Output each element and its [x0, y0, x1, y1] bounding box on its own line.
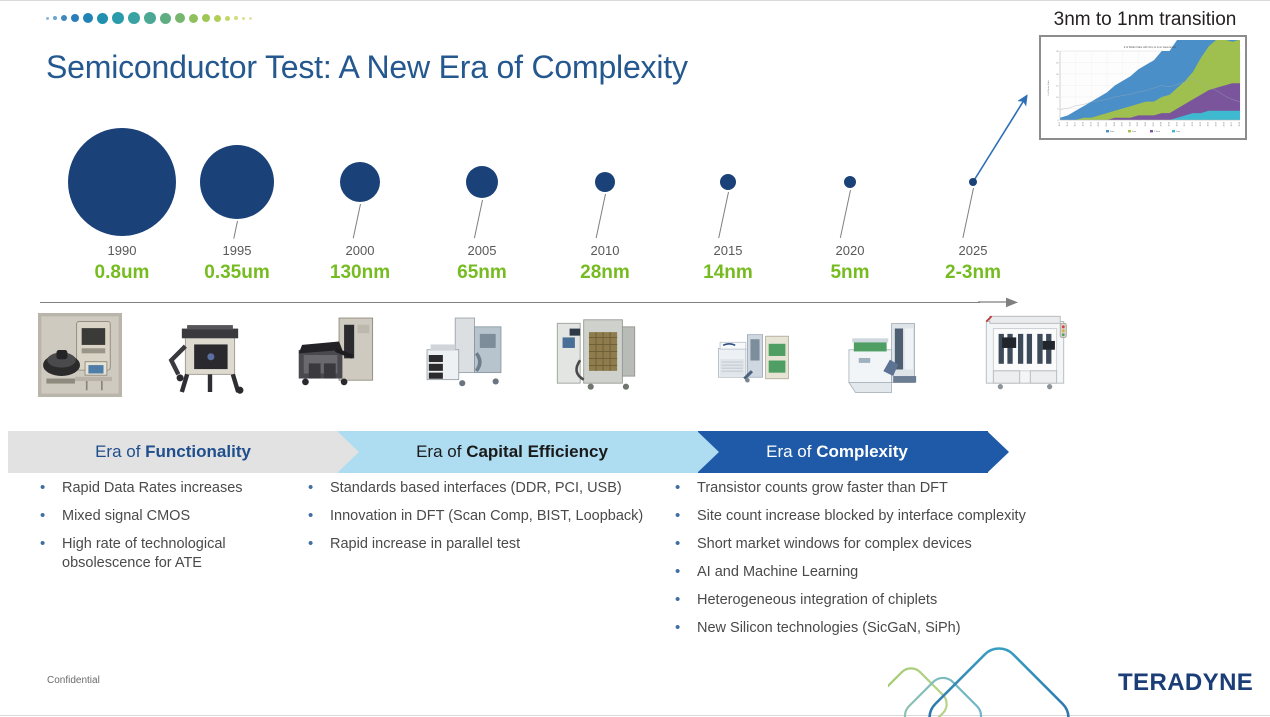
teradyne-wordmark: TERADYNE	[1118, 669, 1253, 697]
gradient-dot	[160, 13, 171, 24]
era-label-prefix: Era of	[416, 442, 466, 461]
era-banner-label: Era of Functionality	[8, 442, 338, 462]
gradient-dot	[97, 13, 108, 24]
bullet-column-1: •Rapid Data Rates increases•Mixed signal…	[40, 479, 315, 582]
gradient-dot	[61, 15, 67, 21]
equipment-photo-3	[288, 313, 380, 397]
slide-canvas: Semiconductor Test: A New Era of Complex…	[0, 0, 1270, 716]
timeline-node-2020[interactable]	[844, 176, 856, 188]
timeline-leader-line	[353, 204, 361, 238]
equipment-photo-row	[0, 301, 1270, 411]
timeline-node-2005[interactable]	[466, 166, 498, 198]
page-title: Semiconductor Test: A New Era of Complex…	[46, 49, 688, 86]
decorative-dot-strip	[46, 9, 252, 27]
timeline-node-size-label: 65nm	[420, 262, 544, 284]
timeline-leader-line	[962, 188, 974, 238]
bullet-item: •High rate of technological obsolescence…	[40, 535, 315, 573]
timeline-leader-line	[233, 221, 238, 239]
bullet-dot-icon: •	[40, 479, 62, 496]
era-label-prefix: Era of	[95, 442, 145, 461]
bullet-dot-icon: •	[40, 535, 62, 552]
equipment-photo-6	[696, 321, 814, 397]
timeline-node-2015[interactable]	[720, 174, 736, 190]
gradient-dot	[175, 13, 185, 23]
timeline-node-2025[interactable]	[969, 178, 977, 186]
timeline-leader-line	[840, 190, 851, 238]
gradient-dot	[83, 13, 93, 23]
era-bullet-columns: •Rapid Data Rates increases•Mixed signal…	[0, 479, 1270, 649]
timeline-node-size-label: 0.8um	[60, 262, 184, 284]
bullet-item: •Innovation in DFT (Scan Comp, BIST, Loo…	[308, 507, 678, 526]
era-label-emphasis: Complexity	[816, 442, 908, 461]
bullet-dot-icon: •	[675, 563, 697, 580]
timeline-leader-line	[718, 192, 729, 238]
bullet-dot-icon: •	[675, 507, 697, 524]
era-label-emphasis: Capital Efficiency	[466, 442, 608, 461]
teradyne-logo-mark	[888, 641, 1118, 717]
gradient-dot	[189, 14, 198, 23]
gradient-dot	[112, 12, 124, 24]
svg-text:# of Wafer Fabs with 3nm to 1n: # of Wafer Fabs with 3nm to 1nm Geometri…	[1124, 45, 1177, 49]
inset-chart-title: 3nm to 1nm transition	[1030, 9, 1260, 31]
bullet-item: •Standards based interfaces (DDR, PCI, U…	[308, 479, 678, 498]
timeline-node-1990[interactable]	[68, 128, 176, 236]
era-banner-3[interactable]: Era of Complexity	[686, 431, 988, 473]
bullet-dot-icon: •	[308, 479, 330, 496]
timeline-year-label: 2025	[921, 243, 1025, 258]
timeline-leader-line	[596, 194, 606, 238]
gradient-dot	[249, 17, 252, 20]
timeline-node-size-label: 28nm	[543, 262, 667, 284]
timeline-node-size-label: 5nm	[788, 262, 912, 284]
gradient-dot	[144, 12, 156, 24]
timeline-node-size-label: 0.35um	[175, 262, 299, 284]
timeline-year-label: 1990	[70, 243, 174, 258]
timeline-year-label: 2020	[798, 243, 902, 258]
gradient-dot	[214, 15, 221, 22]
bullet-text: Transistor counts grow faster than DFT	[697, 479, 948, 498]
gradient-dot	[46, 17, 49, 20]
bullet-text: Site count increase blocked by interface…	[697, 507, 1026, 526]
equipment-photo-2	[165, 311, 255, 399]
era-banner-row: Era of FunctionalityEra of Capital Effic…	[8, 431, 998, 473]
bullet-text: Standards based interfaces (DDR, PCI, US…	[330, 479, 622, 498]
bullet-item: •Heterogeneous integration of chiplets	[675, 591, 1095, 610]
equipment-photo-8	[966, 311, 1084, 399]
bullet-item: •Rapid Data Rates increases	[40, 479, 315, 498]
bullet-dot-icon: •	[40, 507, 62, 524]
technology-node-timeline: 19900.8um19950.35um2000130nm200565nm2010…	[0, 121, 1270, 301]
equipment-photo-1	[38, 306, 122, 404]
timeline-node-size-label: 2-3nm	[911, 262, 1035, 284]
timeline-node-2010[interactable]	[595, 172, 615, 192]
equipment-photo-7	[826, 317, 944, 399]
era-label-prefix: Era of	[766, 442, 816, 461]
bullet-dot-icon: •	[308, 535, 330, 552]
era-banner-chevron	[987, 431, 1009, 473]
bullet-item: •AI and Machine Learning	[675, 563, 1095, 582]
bullet-item: •New Silicon technologies (SicGaN, SiPh)	[675, 619, 1095, 638]
bullet-text: Mixed signal CMOS	[62, 507, 190, 526]
gradient-dot	[53, 16, 57, 20]
gradient-dot	[234, 16, 238, 20]
bullet-text: New Silicon technologies (SicGaN, SiPh)	[697, 619, 961, 638]
era-banner-2[interactable]: Era of Capital Efficiency	[326, 431, 698, 473]
era-banner-chevron	[697, 431, 719, 473]
bullet-item: •Transistor counts grow faster than DFT	[675, 479, 1095, 498]
bullet-item: •Site count increase blocked by interfac…	[675, 507, 1095, 526]
gradient-dot	[242, 17, 245, 20]
bullet-dot-icon: •	[675, 619, 697, 636]
era-banner-chevron	[337, 431, 359, 473]
equipment-photo-4	[412, 311, 516, 399]
gradient-dot	[202, 14, 210, 22]
bullet-dot-icon: •	[675, 479, 697, 496]
timeline-year-label: 2015	[676, 243, 780, 258]
era-banner-label: Era of Capital Efficiency	[326, 442, 698, 462]
timeline-node-1995[interactable]	[200, 145, 274, 219]
bullet-text: Heterogeneous integration of chiplets	[697, 591, 937, 610]
confidential-label: Confidential	[47, 675, 100, 686]
bullet-text: High rate of technological obsolescence …	[62, 535, 315, 573]
equipment-photo-5	[530, 311, 662, 399]
bullet-dot-icon: •	[675, 535, 697, 552]
bullet-text: Innovation in DFT (Scan Comp, BIST, Loop…	[330, 507, 643, 526]
bullet-column-3: •Transistor counts grow faster than DFT•…	[675, 479, 1095, 647]
bullet-item: •Rapid increase in parallel test	[308, 535, 678, 554]
bullet-text: Short market windows for complex devices	[697, 535, 972, 554]
timeline-year-label: 2010	[553, 243, 657, 258]
bullet-dot-icon: •	[675, 591, 697, 608]
era-label-emphasis: Functionality	[145, 442, 251, 461]
timeline-year-label: 2000	[308, 243, 412, 258]
bullet-text: Rapid increase in parallel test	[330, 535, 520, 554]
bullet-text: AI and Machine Learning	[697, 563, 858, 582]
gradient-dot	[71, 14, 79, 22]
timeline-node-size-label: 130nm	[298, 262, 422, 284]
gradient-dot	[128, 12, 140, 24]
gradient-dot	[225, 16, 230, 21]
timeline-leader-line	[474, 200, 483, 238]
bullet-item: •Mixed signal CMOS	[40, 507, 315, 526]
timeline-year-label: 1995	[185, 243, 289, 258]
bullet-item: •Short market windows for complex device…	[675, 535, 1095, 554]
bullet-text: Rapid Data Rates increases	[62, 479, 243, 498]
timeline-node-2000[interactable]	[340, 162, 380, 202]
era-banner-1[interactable]: Era of Functionality	[8, 431, 338, 473]
timeline-year-label: 2005	[430, 243, 534, 258]
bullet-dot-icon: •	[308, 507, 330, 524]
era-banner-label: Era of Complexity	[686, 442, 988, 462]
timeline-node-size-label: 14nm	[666, 262, 790, 284]
bullet-column-2: •Standards based interfaces (DDR, PCI, U…	[308, 479, 678, 563]
